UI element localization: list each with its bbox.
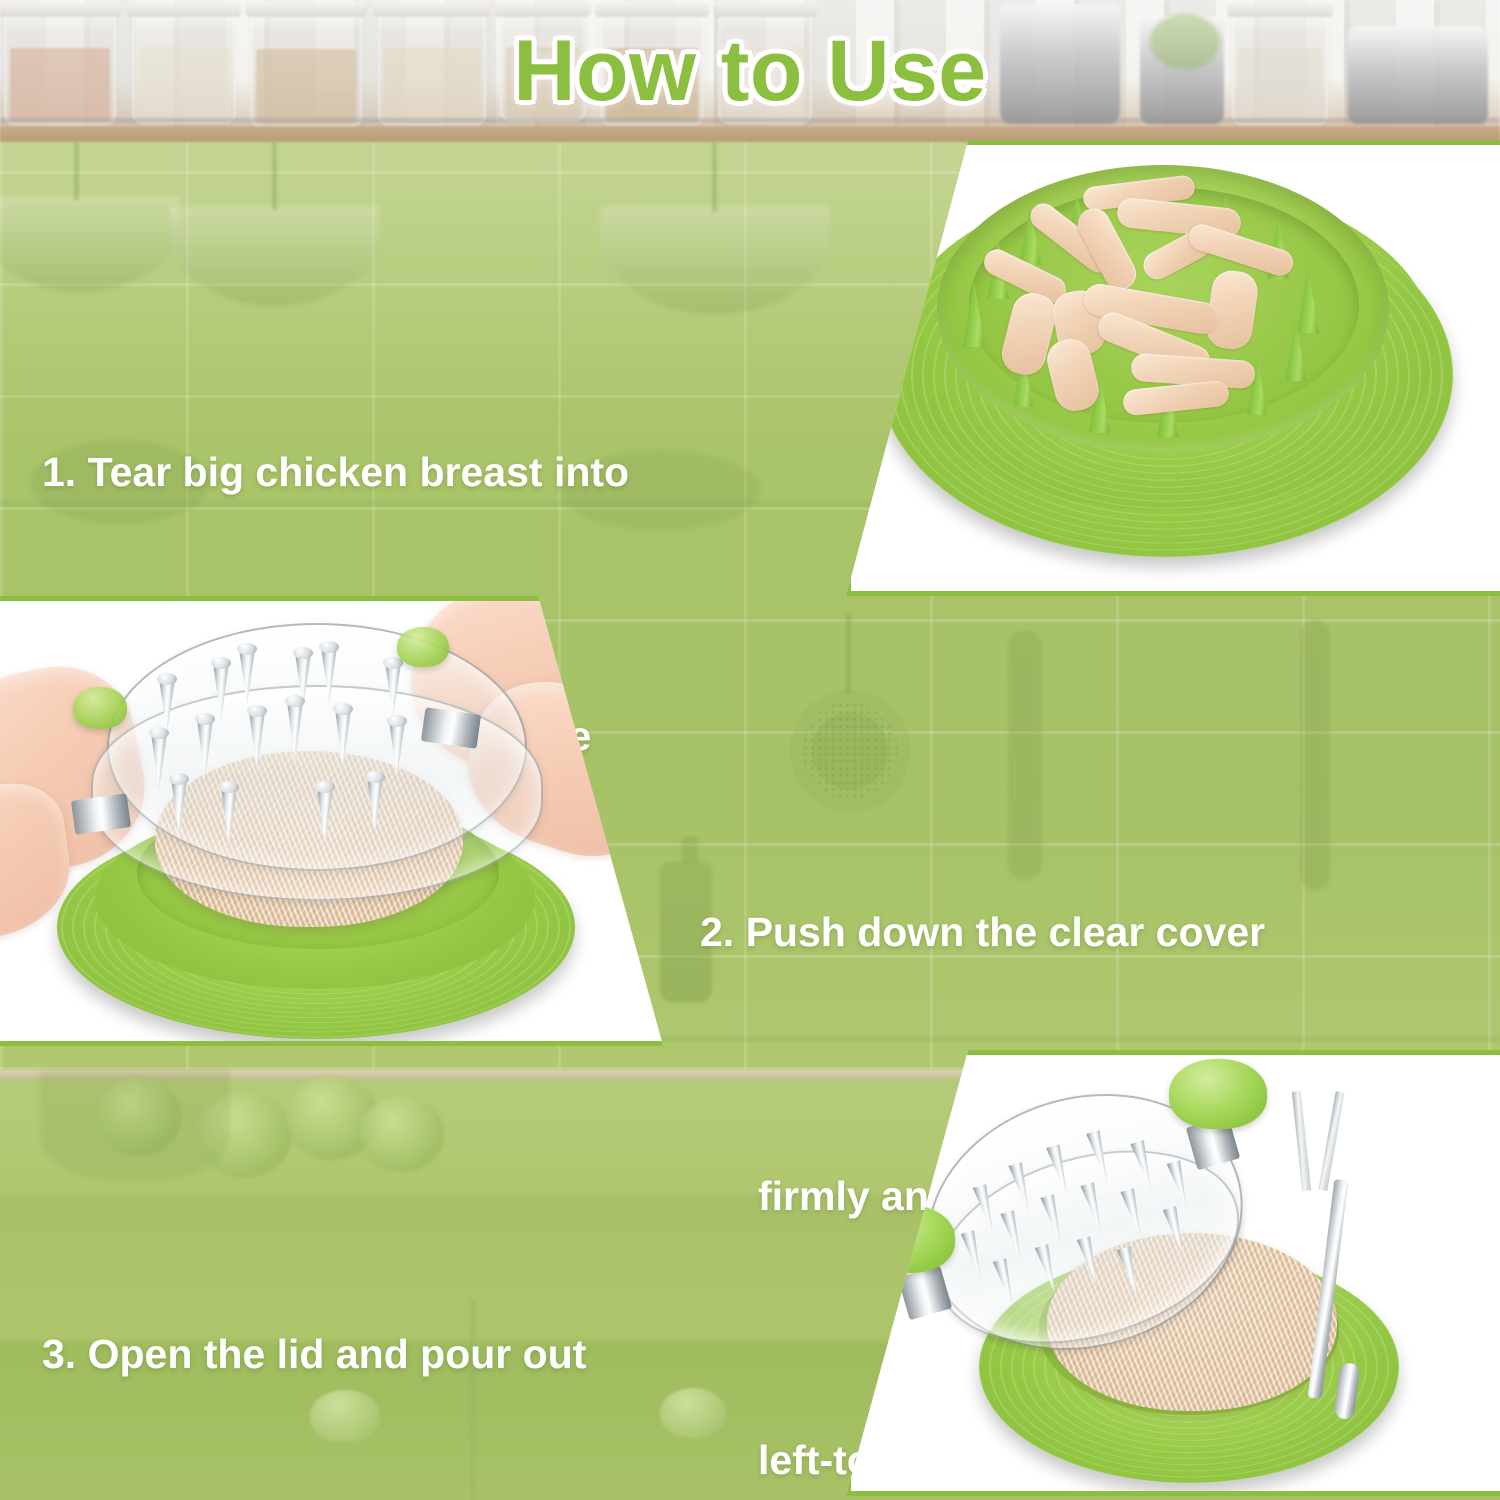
nail-head xyxy=(285,695,305,707)
wood-shelf-edge xyxy=(0,126,1500,142)
nail-head xyxy=(237,643,257,655)
nail-head xyxy=(169,773,189,785)
step-3-line-1: 3. Open the lid and pour out xyxy=(42,1310,642,1398)
nail-head xyxy=(387,715,407,727)
cover-knob-left xyxy=(73,687,127,729)
nail-head xyxy=(211,657,231,669)
ghost-ladle xyxy=(1300,620,1330,890)
ghost-lamp-stem-mid xyxy=(272,142,277,210)
metal-clean-tool-tine-right xyxy=(1318,1091,1344,1191)
step-3-text: 3. Open the lid and pour out the meat in… xyxy=(42,1134,642,1500)
nail-head xyxy=(247,705,267,717)
ghost-lamp-stem-right xyxy=(712,142,717,212)
page-title: How to Use xyxy=(0,22,1500,121)
nail-head xyxy=(293,647,313,659)
nail-head xyxy=(319,641,339,653)
nail-head xyxy=(333,703,353,715)
ghost-strainer-hook xyxy=(846,614,851,694)
ghost-lamp-stem-left xyxy=(74,142,79,200)
nail-head xyxy=(195,713,215,725)
cover-knob-right xyxy=(397,627,449,667)
lid-knob-right xyxy=(1169,1059,1267,1129)
metal-clean-tool-tine-left xyxy=(1292,1091,1311,1191)
nail-head xyxy=(157,673,177,685)
step-1-line-1: 1. Tear big chicken breast into xyxy=(42,428,629,516)
nail-head xyxy=(149,727,169,739)
nail-head xyxy=(219,781,239,793)
how-to-use-infographic: How to Use 1. Tear big chicken breast in… xyxy=(0,0,1500,1500)
nail-head xyxy=(315,781,335,793)
step-2-line-1: 2. Push down the clear cover xyxy=(700,888,1265,976)
nail-head xyxy=(365,771,385,783)
